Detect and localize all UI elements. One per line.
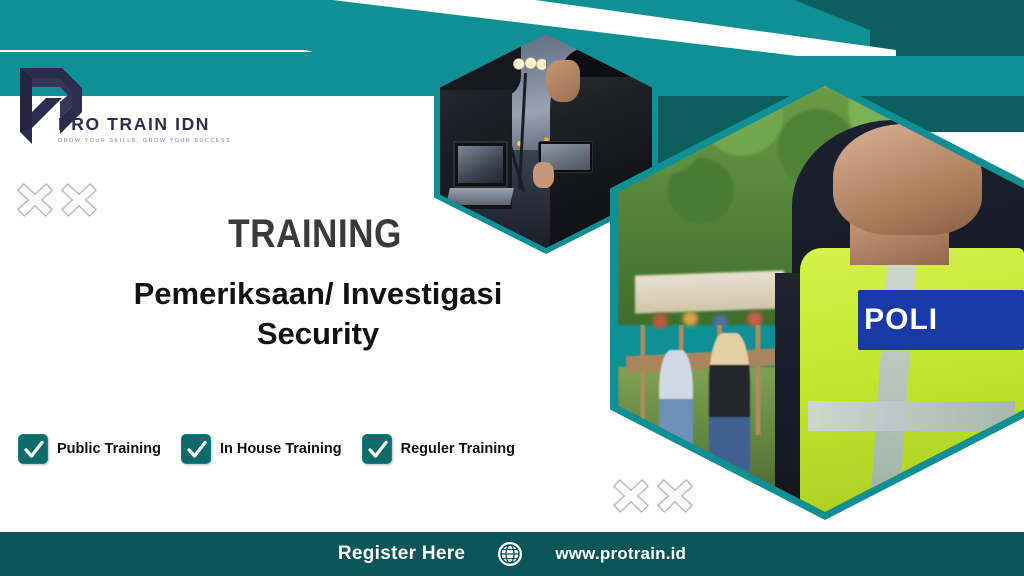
footer-bar: Register Here www.protrain.id xyxy=(0,532,1024,576)
police-vest-patch: POLI xyxy=(858,290,1024,350)
page-title-line2: Security xyxy=(257,316,379,351)
decorative-x-marks-bottom xyxy=(612,476,694,514)
globe-icon xyxy=(497,541,523,567)
checkbox-checked-icon[interactable] xyxy=(18,434,48,464)
brand-tagline: GROW YOUR SKILLS, GROW YOUR SUCCESS xyxy=(58,138,231,144)
brand-logo: PRO TRAIN IDN GROW YOUR SKILLS, GROW YOU… xyxy=(14,62,244,158)
x-mark-icon xyxy=(656,476,694,514)
checkbox-checked-icon[interactable] xyxy=(362,434,392,464)
brand-name: PRO TRAIN IDN xyxy=(58,114,231,135)
checkbox-checked-icon[interactable] xyxy=(181,434,211,464)
training-promo-banner: POLI PRO TRAIN IDN GROW YOUR SKILLS, GRO… xyxy=(0,0,1024,576)
website-url[interactable]: www.protrain.id xyxy=(555,544,686,564)
training-type-in-house[interactable]: In House Training xyxy=(181,434,342,464)
x-mark-icon xyxy=(612,476,650,514)
training-type-label: Public Training xyxy=(57,441,161,457)
training-types-list: Public Training In House Training Regule… xyxy=(18,434,618,464)
training-type-label: Reguler Training xyxy=(401,441,515,457)
page-title: Pemeriksaan/ Investigasi Security xyxy=(40,274,596,353)
page-title-line1: Pemeriksaan/ Investigasi xyxy=(134,276,503,311)
training-type-reguler[interactable]: Reguler Training xyxy=(362,434,515,464)
eyebrow-heading: TRAINING xyxy=(38,212,592,257)
register-here-label[interactable]: Register Here xyxy=(338,543,465,565)
training-type-public[interactable]: Public Training xyxy=(18,434,161,464)
police-patch-text: POLI xyxy=(864,303,938,337)
training-type-label: In House Training xyxy=(220,441,342,457)
